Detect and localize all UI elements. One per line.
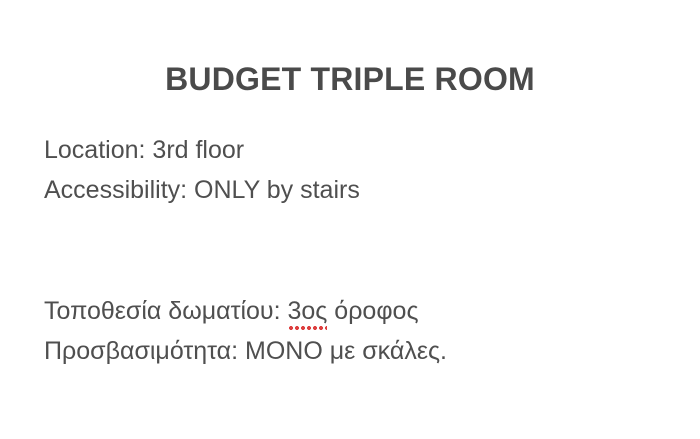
accessibility-line-el: Προσβασιμότητα: ΜΟΝΟ με σκάλες. (44, 331, 447, 371)
location-line-en: Location: 3rd floor (44, 130, 360, 170)
spellcheck-misspelled-word[interactable]: 3ος (288, 291, 328, 331)
document-page: BUDGET TRIPLE ROOM Location: 3rd floor A… (0, 0, 700, 439)
location-line-el-prefix: Τοποθεσία δωματίου: (44, 297, 288, 325)
location-line-el: Τοποθεσία δωματίου: 3ος όροφος (44, 291, 447, 331)
page-title: BUDGET TRIPLE ROOM (0, 59, 700, 99)
greek-info-block: Τοποθεσία δωματίου: 3ος όροφος Προσβασιμ… (44, 291, 447, 371)
english-info-block: Location: 3rd floor Accessibility: ONLY … (44, 130, 360, 210)
location-line-el-suffix: όροφος (327, 297, 418, 325)
accessibility-line-en: Accessibility: ONLY by stairs (44, 170, 360, 210)
